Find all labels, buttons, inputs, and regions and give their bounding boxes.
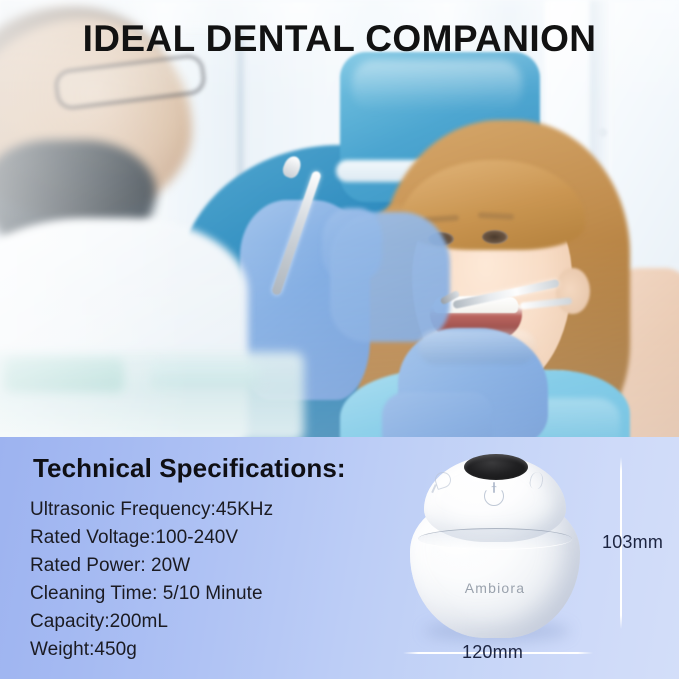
girl-eye-right <box>482 230 508 244</box>
shirt-button <box>598 128 607 137</box>
glove-cuff <box>382 392 492 437</box>
width-dimension-label: 120mm <box>457 641 528 664</box>
spec-item-capacity: Capacity:200mL <box>30 608 273 636</box>
spec-item-ultrasonic-frequency: Ultrasonic Frequency:45KHz <box>30 496 273 524</box>
gloved-hand-upper-second <box>330 212 450 342</box>
product-image: Ambiora <box>404 452 586 642</box>
headrest-highlight <box>352 60 522 112</box>
specifications-heading: Technical Specifications: <box>33 453 346 484</box>
power-button-stem <box>493 482 495 493</box>
hero-photo <box>0 0 679 437</box>
tray-item <box>4 358 124 392</box>
height-dimension-label: 103mm <box>598 531 667 554</box>
product-brand-label: Ambiora <box>404 580 586 596</box>
spec-item-cleaning-time: Cleaning Time: 5/10 Minute <box>30 580 273 608</box>
girl-ear <box>556 268 590 314</box>
spec-item-weight: Weight:450g <box>30 636 273 664</box>
page-title: IDEAL DENTAL COMPANION <box>0 18 679 60</box>
spec-item-rated-power: Rated Power: 20W <box>30 552 273 580</box>
specifications-list: Ultrasonic Frequency:45KHz Rated Voltage… <box>30 496 273 664</box>
spec-item-rated-voltage: Rated Voltage:100-240V <box>30 524 273 552</box>
product-seam <box>418 528 572 550</box>
product-top-window <box>464 454 528 480</box>
product-infographic: IDEAL DENTAL COMPANION Technical Specifi… <box>0 0 679 679</box>
tray-item <box>150 362 260 388</box>
gloved-fingers-lower <box>418 330 536 364</box>
